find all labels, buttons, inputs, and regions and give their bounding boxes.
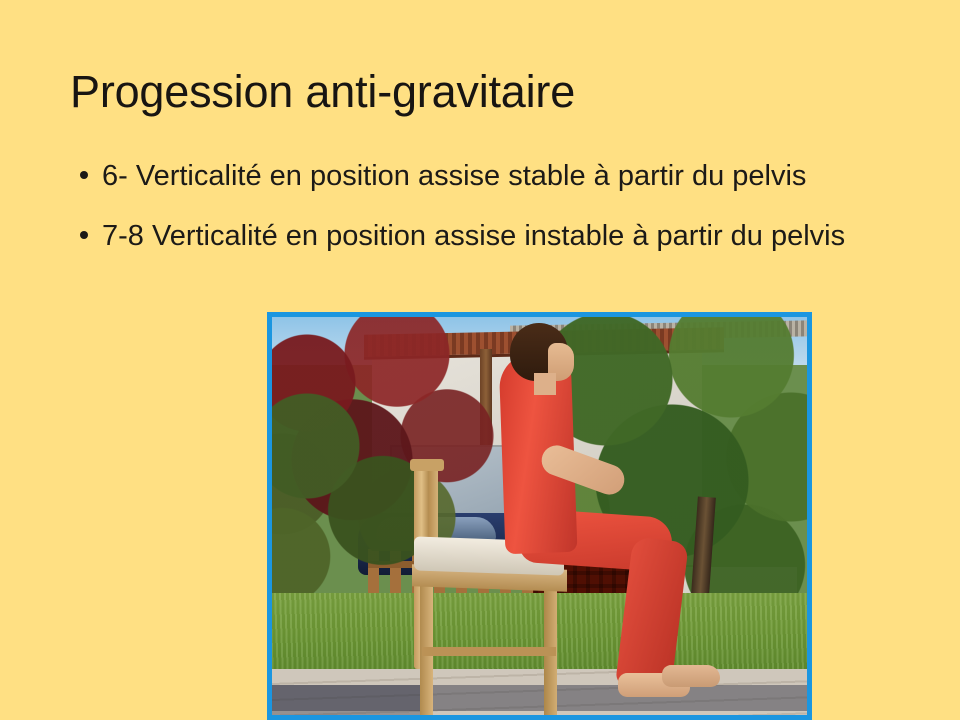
seated-posture-photo	[267, 312, 812, 720]
list-item: 7-8 Verticalité en position assise insta…	[76, 214, 866, 258]
deck-shadow-left	[272, 685, 422, 715]
person-neck	[534, 373, 556, 395]
list-item-text: 7-8 Verticalité en position assise insta…	[102, 214, 866, 258]
page-title: Progession anti-gravitaire	[70, 64, 900, 120]
person-foot-right	[662, 665, 720, 687]
bullet-list: 6- Verticalité en position assise stable…	[76, 154, 866, 274]
slide: Progession anti-gravitaire 6- Verticalit…	[0, 0, 960, 720]
lawn-texture	[272, 593, 807, 679]
list-item: 6- Verticalité en position assise stable…	[76, 154, 866, 198]
photo-content	[272, 317, 807, 715]
chair-top-rail	[410, 459, 444, 471]
bullet-dot-icon	[80, 171, 88, 179]
chair-stretcher	[422, 647, 556, 656]
list-item-text: 6- Verticalité en position assise stable…	[102, 154, 866, 198]
bullet-dot-icon	[80, 231, 88, 239]
